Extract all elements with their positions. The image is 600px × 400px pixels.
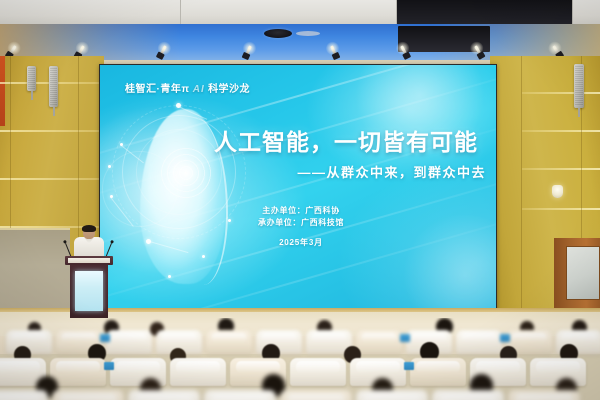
projected-slide: 桂智汇·青年π AI 科学沙龙 人工智能，一切皆有可能 ——从群众中来，到群众中… <box>100 65 496 312</box>
spotlight-icon <box>9 45 17 54</box>
spotlight-icon <box>78 45 85 54</box>
slide-header-suffix: 科学沙龙 <box>208 84 250 95</box>
seat <box>50 358 106 386</box>
seat <box>356 390 428 400</box>
speaker-icon <box>574 64 584 108</box>
slide-organizer: 主办单位：广西科协 <box>196 205 406 217</box>
ceiling-seam <box>396 0 397 26</box>
seat <box>52 390 124 400</box>
seat-number-tag <box>400 334 410 342</box>
slide-header-pi: π <box>181 84 189 95</box>
speaker-icon <box>49 66 58 107</box>
podium-icon <box>65 256 113 318</box>
seat <box>170 358 226 386</box>
slide-header-prefix: 桂智汇·青年 <box>125 84 181 95</box>
seat-number-tag <box>404 362 414 370</box>
door-window <box>566 246 600 300</box>
seat <box>280 390 352 400</box>
spotlight-icon <box>160 45 167 54</box>
seat <box>410 358 466 386</box>
spotlight-icon <box>474 45 481 54</box>
seat <box>106 330 152 354</box>
slide-organizer-block: 主办单位：广西科协 承办单位：广西科技馆 <box>196 205 406 229</box>
slide-subtitle: ——从群众中来，到群众中去 <box>218 162 486 181</box>
ceiling-seam <box>572 0 573 26</box>
speaker-icon <box>27 66 36 91</box>
ceiling-blue-soffit <box>0 24 600 60</box>
spotlight-icon <box>552 45 560 54</box>
seat-number-tag <box>104 362 114 370</box>
wall-sconce-icon <box>552 185 563 198</box>
spotlight-icon <box>245 45 251 54</box>
slide-header-text: 桂智汇·青年π AI 科学沙龙 <box>125 80 250 95</box>
seat-number-tag <box>500 334 510 342</box>
audience-seating <box>0 318 600 400</box>
slide-header-ai: AI <box>193 84 205 95</box>
seat <box>508 390 580 400</box>
seat <box>128 390 200 400</box>
seat <box>356 330 402 354</box>
slide-title: 人工智能，一切皆有可能 <box>208 123 484 157</box>
podium-display-panel <box>75 271 103 311</box>
seat <box>290 358 346 386</box>
slide-date: 2025年3月 <box>196 237 406 248</box>
spotlight-icon <box>400 45 407 54</box>
seat <box>432 390 504 400</box>
presenter <box>72 226 106 260</box>
auditorium-scene: 桂智汇·青年π AI 科学沙龙 人工智能，一切皆有可能 ——从群众中来，到群众中… <box>0 0 600 400</box>
ceiling-acoustic-panel <box>396 0 572 26</box>
wall-accent-strip <box>0 56 5 126</box>
ceiling-vent-icon <box>264 29 292 38</box>
seat-number-tag <box>100 334 110 342</box>
ceiling-light-strip <box>296 31 320 36</box>
slide-host: 承办单位：广西科技馆 <box>196 217 406 229</box>
projection-screen: 桂智汇·青年π AI 科学沙龙 人工智能，一切皆有可能 ——从群众中来，到群众中… <box>99 64 497 313</box>
wall-lower-panel <box>0 228 70 318</box>
ceiling-seam <box>180 0 181 26</box>
seat <box>204 390 276 400</box>
spotlight-icon <box>330 45 336 54</box>
seat <box>456 330 502 354</box>
seat <box>0 390 48 400</box>
seat <box>206 330 252 354</box>
